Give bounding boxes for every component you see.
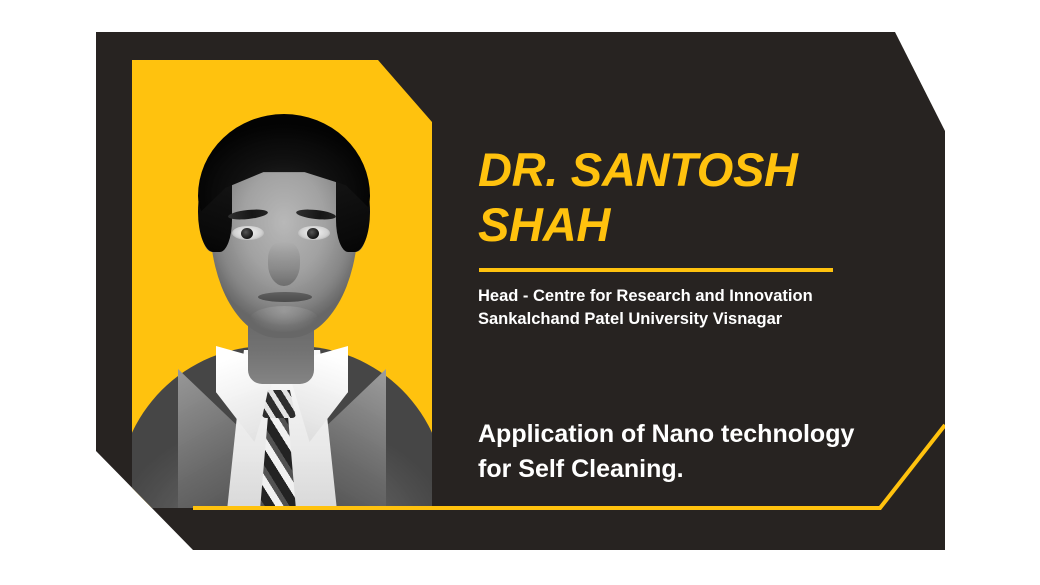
portrait-eye-left <box>232 226 264 240</box>
slide-canvas: DR. SANTOSH SHAH Head - Centre for Resea… <box>0 0 1040 585</box>
portrait-mouth <box>258 292 312 302</box>
speaker-role: Head - Centre for Research and Innovatio… <box>478 285 898 331</box>
speaker-photo-panel <box>132 60 432 508</box>
speaker-card: DR. SANTOSH SHAH Head - Centre for Resea… <box>96 32 945 550</box>
portrait-pupil-left <box>241 228 253 239</box>
name-divider-rule <box>479 268 833 272</box>
portrait-eye-right <box>298 226 330 240</box>
talk-title: Application of Nano technology for Self … <box>478 417 908 487</box>
portrait-chin <box>250 306 318 332</box>
portrait-pupil-right <box>307 228 319 239</box>
speaker-portrait-image <box>132 60 432 508</box>
portrait-nose <box>268 242 300 286</box>
speaker-name: DR. SANTOSH SHAH <box>478 142 878 252</box>
speaker-info-block: DR. SANTOSH SHAH Head - Centre for Resea… <box>478 32 898 550</box>
